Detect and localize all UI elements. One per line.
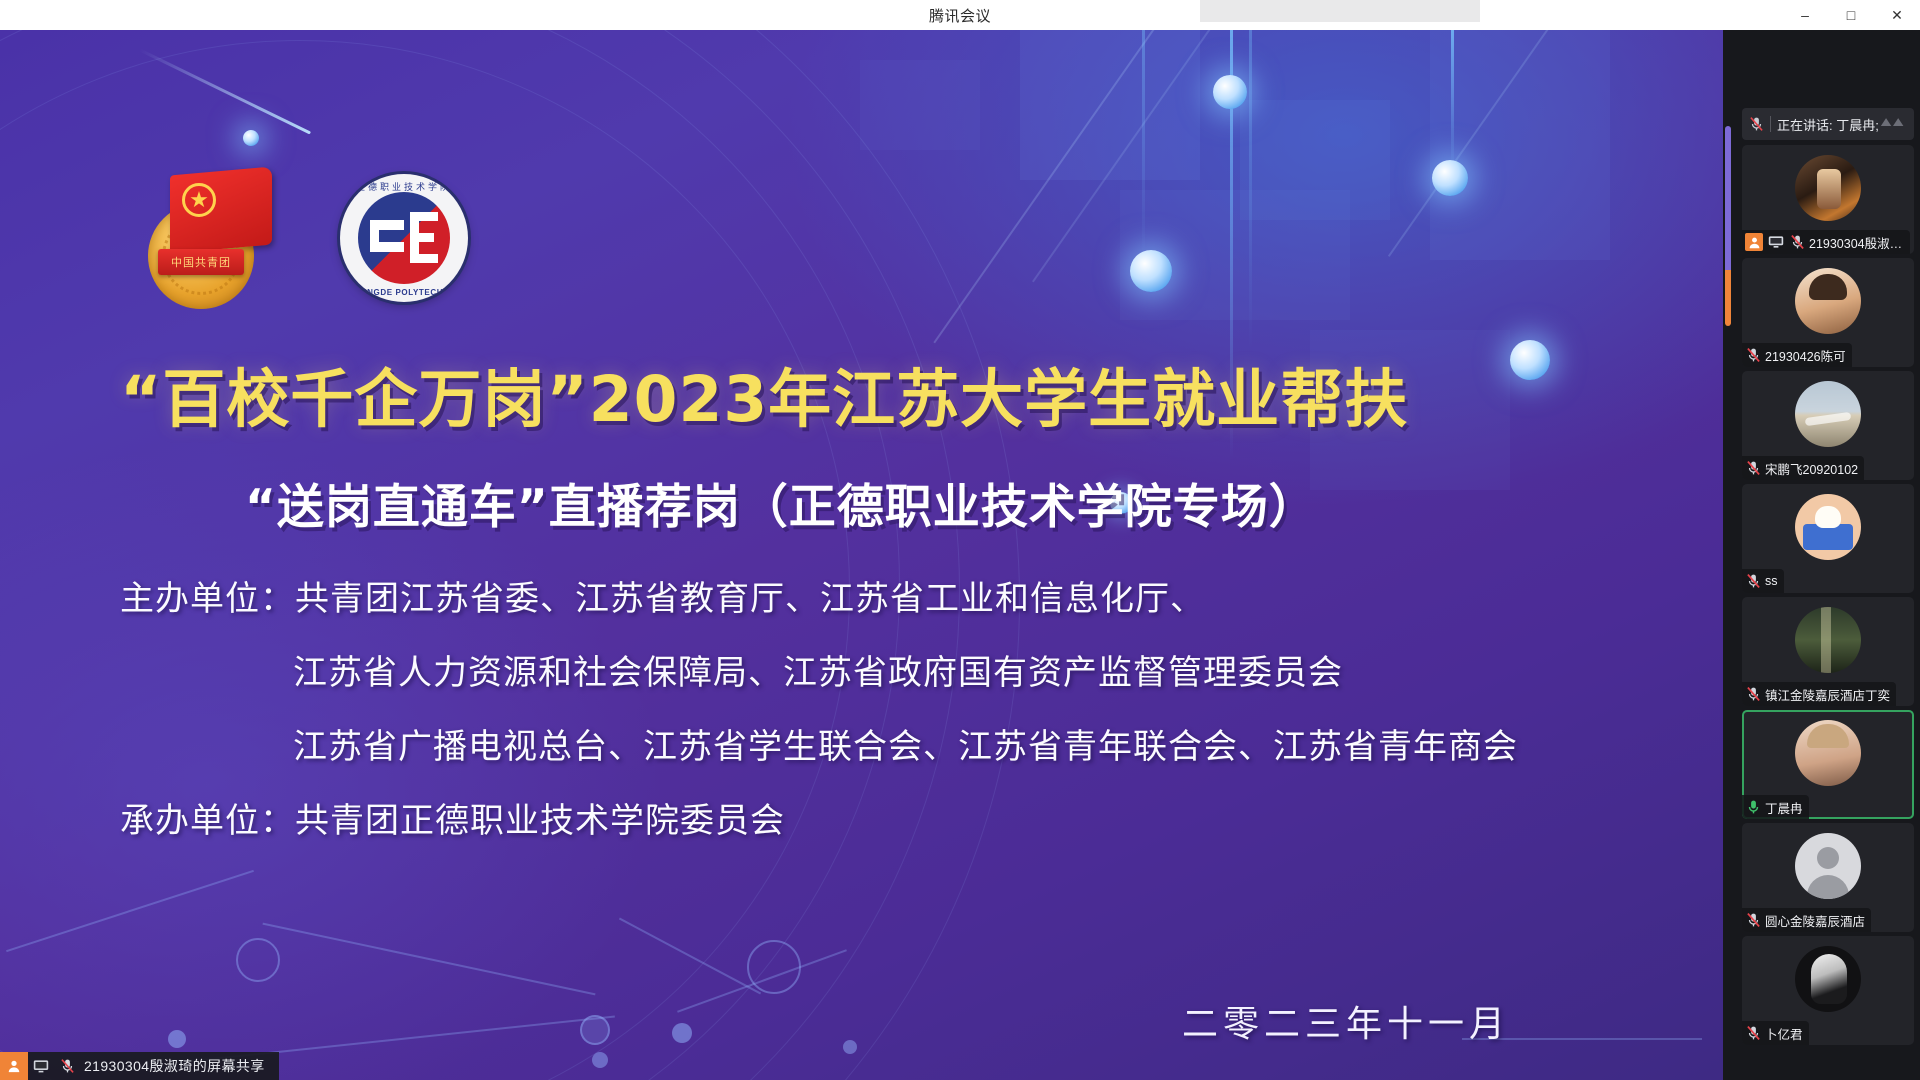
participant-namebar: 21930426陈可 <box>1742 343 1852 367</box>
participant-namebar: ss <box>1742 569 1784 593</box>
participant-rail: 21930304殷淑琦...21930426陈可宋鹏飞20920102ss镇江金… <box>1723 30 1920 1080</box>
active-speaker-banner: 正在讲话: 丁晨冉; <box>1742 108 1914 140</box>
communist-youth-league-emblem: ★ 中国共青团 <box>140 165 280 310</box>
tencent-meeting-window: 腾讯会议 – □ ✕ <box>0 0 1920 1080</box>
chevrons-icon[interactable] <box>1880 116 1906 132</box>
maximize-button[interactable]: □ <box>1828 0 1874 30</box>
mic-muted-icon[interactable] <box>1745 459 1761 477</box>
mic-muted-icon[interactable] <box>1789 233 1805 251</box>
slide-body-line-4: 承办单位：共青团正德职业技术学院委员会 <box>120 800 1660 843</box>
avatar <box>1795 833 1861 899</box>
slide-body-line-1: 主办单位：共青团江苏省委、江苏省教育厅、江苏省工业和信息化厅、 <box>120 578 1660 621</box>
participant-tile[interactable]: 卜亿君 <box>1742 936 1914 1045</box>
participant-name: 圆心金陵嘉辰酒店 <box>1765 911 1865 930</box>
participant-name: 镇江金陵嘉辰酒店丁奕 <box>1765 685 1890 704</box>
divider <box>1770 116 1771 132</box>
window-controls: – □ ✕ <box>1782 0 1920 30</box>
participant-tile[interactable]: 圆心金陵嘉辰酒店 <box>1742 823 1914 932</box>
slide-body-line-2: 江苏省人力资源和社会保障局、江苏省政府国有资产监督管理委员会 <box>293 652 1723 695</box>
monitor-icon <box>28 1052 54 1080</box>
mic-muted-icon <box>54 1052 80 1080</box>
avatar <box>1795 494 1861 560</box>
host-badge-icon <box>0 1052 28 1080</box>
window-title: 腾讯会议 <box>929 5 991 26</box>
participant-namebar: 卜亿君 <box>1742 1021 1809 1045</box>
participant-tile[interactable]: 镇江金陵嘉辰酒店丁奕 <box>1742 597 1914 706</box>
participant-namebar: 丁晨冉 <box>1742 795 1809 819</box>
screen-share-label: 21930304殷淑琦的屏幕共享 <box>80 1056 265 1076</box>
participant-name: 宋鹏飞20920102 <box>1765 459 1858 478</box>
slide-title-main: “百校千企万岗”2023年江苏大学生就业帮扶 <box>120 367 1620 433</box>
avatar <box>1795 720 1861 786</box>
mic-muted-icon[interactable] <box>1745 346 1761 364</box>
slide-logos: ★ 中国共青团 正德职业技术学院 ZHENGDE PO <box>140 165 468 310</box>
mic-on-icon[interactable] <box>1745 798 1761 816</box>
participant-namebar: 镇江金陵嘉辰酒店丁奕 <box>1742 682 1896 706</box>
host-badge-icon <box>1745 233 1763 251</box>
star-icon: ★ <box>182 183 216 217</box>
participant-tile[interactable]: 宋鹏飞20920102 <box>1742 371 1914 480</box>
shared-screen-content[interactable]: ★ 中国共青团 正德职业技术学院 ZHENGDE PO <box>0 30 1723 1080</box>
screen-share-icon <box>1767 233 1785 251</box>
avatar <box>1795 946 1861 1012</box>
participant-name: 21930426陈可 <box>1765 346 1846 365</box>
slide-title-sub: “送岗直通车”直播荐岗（正德职业技术学院专场） <box>245 482 1695 534</box>
mic-muted-icon[interactable] <box>1745 1024 1761 1042</box>
active-speaker-text: 正在讲话: 丁晨冉; <box>1777 115 1879 134</box>
mic-muted-icon[interactable] <box>1745 685 1761 703</box>
screen-share-status-bar: 21930304殷淑琦的屏幕共享 <box>0 1052 279 1080</box>
participant-name: ss <box>1765 574 1778 588</box>
minimize-button[interactable]: – <box>1782 0 1828 30</box>
participant-name: 21930304殷淑琦... <box>1809 233 1904 252</box>
slide-body-line-3: 江苏省广播电视总台、江苏省学生联合会、江苏省青年联合会、江苏省青年商会 <box>293 726 1723 769</box>
participant-tile[interactable]: 21930304殷淑琦... <box>1742 145 1914 254</box>
participant-tile[interactable]: ss <box>1742 484 1914 593</box>
avatar <box>1795 607 1861 673</box>
participant-name: 丁晨冉 <box>1765 798 1803 817</box>
participant-tile[interactable]: 21930426陈可 <box>1742 258 1914 367</box>
window-titlebar: 腾讯会议 – □ ✕ <box>0 0 1920 30</box>
mic-muted-icon[interactable] <box>1745 911 1761 929</box>
zhengde-logo-cn-text: 正德职业技术学院 <box>340 180 468 193</box>
zhengde-monogram-icon <box>370 208 438 266</box>
meeting-stage: ★ 中国共青团 正德职业技术学院 ZHENGDE PO <box>0 30 1920 1080</box>
participant-name: 卜亿君 <box>1765 1024 1803 1043</box>
slide-date: 二零二三年十一月 <box>1090 995 1510 1047</box>
avatar <box>1795 268 1861 334</box>
participant-namebar: 圆心金陵嘉辰酒店 <box>1742 908 1871 932</box>
zhengde-logo-en-text: ZHENGDE POLYTECHNIC <box>340 288 468 297</box>
zhengde-polytechnic-logo: 正德职业技术学院 ZHENGDE POLYTECHNIC <box>340 174 468 302</box>
participant-namebar: 宋鹏飞20920102 <box>1742 456 1864 480</box>
participant-scrollbar[interactable] <box>1725 126 1731 326</box>
participant-tile[interactable]: 丁晨冉 <box>1742 710 1914 819</box>
titlebar-overlay-panel <box>1200 0 1480 22</box>
avatar <box>1795 155 1861 221</box>
mic-muted-icon[interactable] <box>1745 572 1761 590</box>
mic-muted-icon <box>1748 115 1764 133</box>
emblem-band-text: 中国共青团 <box>158 249 244 275</box>
close-button[interactable]: ✕ <box>1874 0 1920 30</box>
participant-namebar: 21930304殷淑琦... <box>1742 230 1910 254</box>
avatar <box>1795 381 1861 447</box>
